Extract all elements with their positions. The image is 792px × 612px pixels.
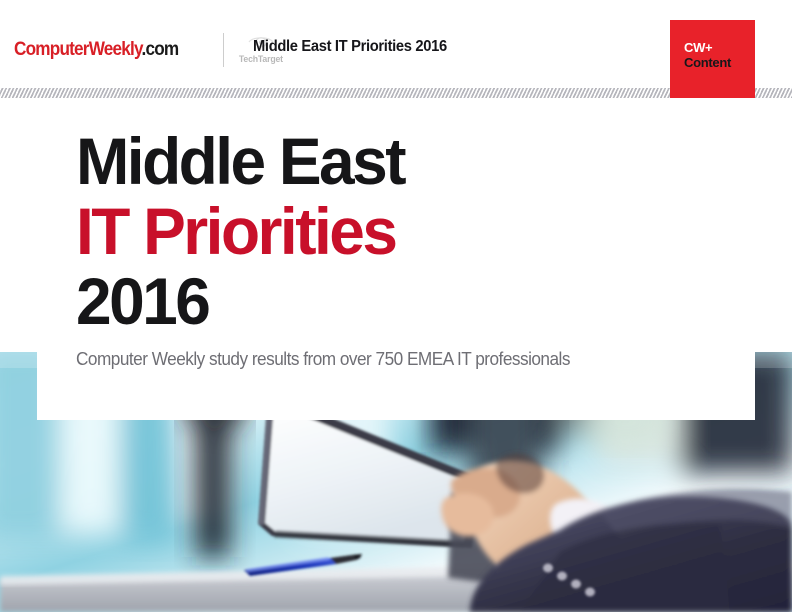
badge-line-1: CW+: [684, 40, 755, 55]
cw-plus-content-badge[interactable]: CW+ Content: [670, 20, 755, 98]
cover-white-panel: Middle East IT Priorities 2016 Computer …: [37, 98, 755, 420]
computerweekly-logo-name: ComputerWeekly: [14, 38, 142, 60]
cover-subtitle: Computer Weekly study results from over …: [76, 348, 570, 370]
cover-title: Middle East IT Priorities 2016: [76, 126, 414, 336]
badge-line-2: Content: [684, 55, 755, 70]
computerweekly-logo-tld: .com: [142, 38, 179, 60]
brand-lockup[interactable]: ComputerWeekly.com TechTarget: [14, 33, 285, 67]
header-document-title: Middle East IT Priorities 2016: [253, 38, 447, 56]
title-line-3: 2016: [76, 266, 404, 336]
title-line-2: IT Priorities: [76, 196, 404, 266]
title-line-1: Middle East: [76, 126, 404, 196]
logo-divider: [223, 33, 224, 67]
cover-page: Middle East IT Priorities 2016 Computer …: [0, 0, 792, 612]
computerweekly-logo[interactable]: ComputerWeekly.com: [14, 40, 178, 60]
